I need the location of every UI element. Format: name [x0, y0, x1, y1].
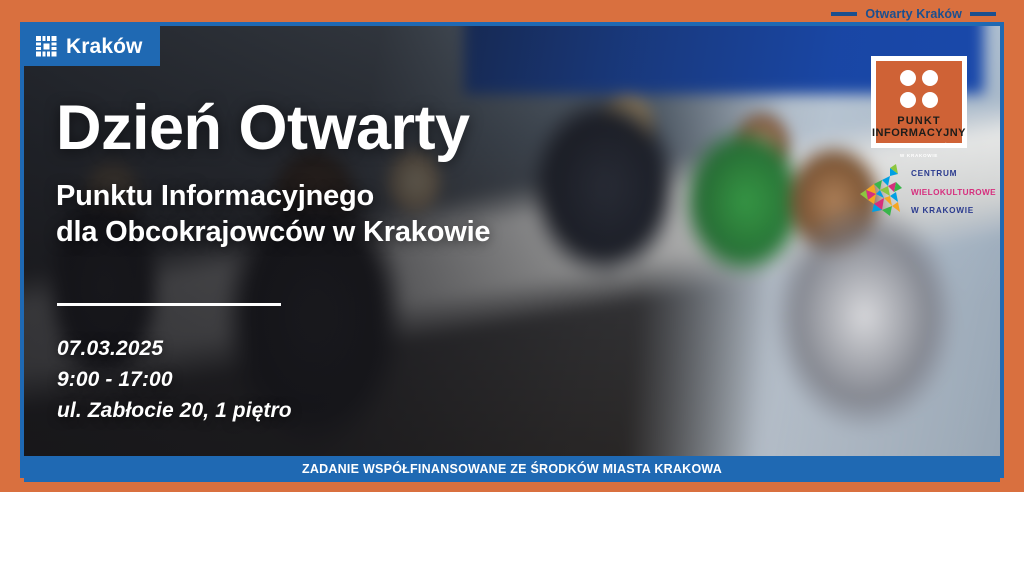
strapline-text: Otwarty Kraków	[865, 7, 962, 21]
partner-logo-strip: Fundacja IB Polska IB	[0, 492, 1024, 576]
poster-subhead-line1: Punktu Informacyjnego	[56, 178, 696, 215]
strapline: Otwarty Kraków	[831, 6, 996, 22]
krakow-badge-label: Kraków	[66, 36, 142, 57]
strapline-bar-right	[970, 12, 996, 16]
event-details: 07.03.2025 9:00 - 17:00 ul. Zabłocie 20,…	[57, 333, 292, 426]
pi-line2: INFORMACYJNY	[872, 127, 966, 139]
event-poster: Otwarty Kraków	[0, 0, 1024, 576]
cw-line1: CENTRUM	[911, 169, 957, 178]
pi-line1: PUNKT	[897, 115, 940, 127]
cw-line3: W KRAKOWIE	[911, 206, 974, 215]
punkt-informacyjny-logo: PUNKT INFORMACYJNY DLA OBCOKRAJOWCÓW W K…	[871, 56, 967, 148]
funding-bar: ZADANIE WSPÓŁFINANSOWANE ZE ŚRODKÓW MIAS…	[24, 456, 1000, 482]
centrum-wielokulturowe-logo: CENTRUM WIELOKULTUROWE W KRAKOWIE	[860, 160, 982, 222]
poster-subhead-line2: dla Obcokrajowców w Krakowie	[56, 214, 696, 251]
cw-line2: WIELOKULTUROWE	[911, 188, 996, 197]
event-address: ul. Zabłocie 20, 1 piętro	[57, 395, 292, 426]
strapline-bar-left	[831, 12, 857, 16]
event-hours: 9:00 - 17:00	[57, 364, 292, 395]
krakow-city-badge: Kraków	[24, 26, 160, 66]
pi-line3: DLA OBCOKRAJOWCÓW	[885, 143, 953, 150]
poster-headline: Dzień Otwarty	[56, 96, 696, 162]
folk-dancers-mosaic-icon	[860, 160, 906, 223]
divider-rule	[57, 303, 281, 306]
headline-block: Dzień Otwarty Punktu Informacyjnego dla …	[56, 96, 696, 251]
punkt-informacyjny-dots-icon	[900, 70, 938, 108]
event-date: 07.03.2025	[57, 333, 292, 364]
pi-line4: W KRAKOWIE	[900, 153, 938, 160]
krakow-mosaic-icon	[36, 36, 57, 57]
funding-note: ZADANIE WSPÓŁFINANSOWANE ZE ŚRODKÓW MIAS…	[302, 462, 722, 476]
